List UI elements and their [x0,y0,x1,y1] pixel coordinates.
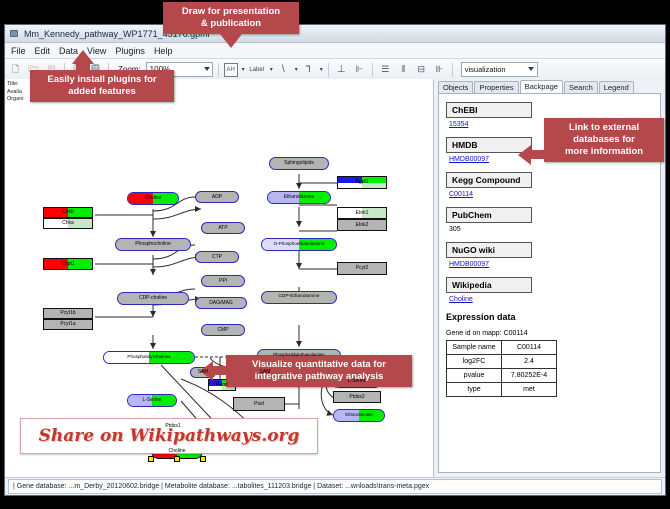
menu-item-edit[interactable]: Edit [35,46,51,56]
tab-legend[interactable]: Legend [599,81,634,94]
node-label: Sphingolipids [284,161,314,166]
node-ethanolamine-right[interactable]: Ethanolamine [333,409,385,422]
node-pcyt1b[interactable]: Pcyt1b [43,308,93,319]
new-file-icon[interactable]: 🗋 [8,62,23,77]
node-label: Chkb [62,210,74,215]
node-label: Ptdss1 [165,424,180,429]
menu-item-help[interactable]: Help [154,46,173,56]
tab-objects[interactable]: Objects [438,81,473,94]
node-dagmag[interactable]: DAG/MAG [195,297,247,309]
visualization-combobox[interactable]: visualization [461,62,538,77]
toolbar-separator-4 [328,63,329,77]
database-name: Kegg Compound [446,172,532,188]
table-row: Sample name C00114 [447,341,557,355]
database-name: Wikipedia [446,277,532,293]
callout-line-3: more information [551,146,657,158]
pathvisio-icon [9,28,20,39]
text-label-icon[interactable]: AH [224,63,238,77]
visualization-value: visualization [465,65,506,74]
tab-properties[interactable]: Properties [474,81,518,94]
callout-line-1: Easily install plugins for [37,74,167,86]
node-label: Phosphatidylcholines [127,355,170,360]
node-label: Etnk2 [356,223,369,228]
database-block-nugo: NuGO wiki HMDB00097 [446,240,653,268]
toolbar-separator-5 [372,63,373,77]
database-name: ChEBI [446,102,532,118]
database-name: PubChem [446,207,532,223]
menu-item-plugins[interactable]: Plugins [115,46,145,56]
node-label: L-Serine [348,379,367,384]
table-cell-value: 7.80252E-4 [502,369,557,383]
share-banner-text: Share on Wikipathways.org [39,426,300,446]
node-label: CDP-choline [139,296,167,301]
callout-stem-links [530,150,546,159]
node-label: Phosphocholine [135,242,171,247]
node-label: Chka [62,221,74,226]
toolbar-separator-6 [452,63,453,77]
node-label: Chpt1 [61,262,74,267]
node-cdp-choline[interactable]: CDP-choline [117,292,189,305]
node-adp[interactable]: ADP [195,191,239,203]
callout-line-2: added features [37,86,167,98]
tab-backpage[interactable]: Backpage [520,80,563,94]
label-tool[interactable]: Label [248,62,266,77]
node-sphingolipids[interactable]: Sphingolipids [269,157,329,170]
callout-stem-visualize [212,366,228,375]
node-ppi[interactable]: PPi [201,275,245,287]
table-cell-key: pvalue [447,369,502,383]
table-cell-value: 2.4 [502,355,557,369]
table-cell-value: C00114 [502,341,557,355]
chevron-down-icon[interactable]: ▾ [295,66,298,73]
node-label: Pcyt1a [60,322,75,327]
expression-table: Sample name C00114 log2FC 2.4 pvalue 7.8… [446,340,557,397]
database-block-kegg: Kegg Compound C00114 [446,170,653,198]
node-label: CDP-Ethanolamine [278,295,319,300]
callout-line-1: Link to external [551,122,657,134]
node-choline-top[interactable]: Choline [127,192,179,205]
database-link-kegg[interactable]: C00114 [449,191,653,198]
table-row: pvalue 7.80252E-4 [447,369,557,383]
node-l-serine-left[interactable]: L-Serine [127,394,177,407]
callout-draw-for-presentation: Draw for presentation & publication [163,2,299,34]
side-panel-tabs: Objects Properties Backpage Search Legen… [434,79,665,93]
table-cell-key: Sample name [447,341,502,355]
callout-line-1: Draw for presentation [170,6,292,18]
node-label: Phosphatidylethanolamine [273,353,325,357]
table-cell-key: type [447,383,502,397]
tab-search[interactable]: Search [564,81,598,94]
node-label: L-Serine [143,398,162,403]
callout-line-2: & publication [170,18,292,30]
table-row: type met [447,383,557,397]
selection-handle-sw[interactable] [148,456,154,462]
node-label: SAM [260,370,271,375]
node-label: SAH [198,370,208,375]
node-label: Ethanolamine [345,413,373,418]
node-chka[interactable]: Chka [43,218,93,229]
node-label: Ethanolamine [284,195,315,200]
node-phosphocholine[interactable]: Phosphocholine [115,238,191,251]
node-o-phosphoethanolamine[interactable]: O-Phosphoethanolamine [261,238,337,251]
node-label: PPi [219,279,227,284]
screenshot-root: Mm_Kennedy_pathway_WP1771_45176.gpml Fil… [0,0,670,509]
distribute-vertical-icon[interactable]: ☰ [378,62,393,77]
callout-arrow-left-links [518,145,531,165]
node-ctp[interactable]: CTP [195,251,239,263]
node-label: CMP [217,328,228,333]
database-block-wikipedia: Wikipedia Choline [446,275,653,303]
status-bar-text: | Gene database: ...m_Derby_20120602.bri… [8,479,662,494]
node-chkb[interactable]: Chkb [43,207,93,218]
node-etnk2[interactable]: Etnk2 [337,219,387,231]
node-label: Pisd [254,402,264,407]
node-cdp-ethanolamine[interactable]: CDP-Ethanolamine [261,291,337,304]
node-label: O-Phosphoethanolamine [274,242,325,247]
node-label: Sgpl1 [356,180,369,185]
node-sgpl1[interactable]: Sgpl1 [337,176,387,189]
align-top-icon[interactable]: ⊥ [334,62,349,77]
chevron-down-icon[interactable]: ▾ [320,66,323,73]
database-block-pubchem: PubChem 305 [446,205,653,233]
callout-visualize-quantitative-data: Visualize quantitative data for integrat… [226,355,412,387]
node-label: Pcyt2 [356,266,369,271]
interaction-tool[interactable]: ⅂ [301,62,316,77]
node-ptdss2[interactable]: Ptdss2 [333,391,381,403]
menu-item-file[interactable]: File [11,46,26,56]
chevron-down-icon [204,67,210,71]
expression-data-heading: Expression data [446,312,653,322]
node-label: ATP [218,226,227,231]
title-bar: Mm_Kennedy_pathway_WP1771_45176.gpml [5,25,665,43]
node-pcyt2[interactable]: Pcyt2 [337,262,387,275]
table-cell-value: met [502,383,557,397]
node-label: Pemt [216,383,228,388]
table-cell-key: log2FC [447,355,502,369]
node-atp[interactable]: ATP [201,222,245,234]
database-link-nugo[interactable]: HMDB00097 [449,261,653,268]
chevron-down-icon [528,67,534,71]
toolbar-separator-3 [218,63,219,77]
callout-easily-install-plugins: Easily install plugins for added feature… [30,70,174,102]
database-name: NuGO wiki [446,242,532,258]
chevron-down-icon[interactable]: ▾ [270,66,273,73]
node-label: CTP [212,255,222,260]
status-bar: | Gene database: ...m_Derby_20120602.bri… [5,477,665,495]
menu-bar: File Edit Data View Plugins Help [5,43,665,59]
node-label: ADP [212,195,222,200]
node-label: Choline [145,196,162,201]
common-width-icon[interactable]: ⊟ [414,62,429,77]
node-label: Etnk1 [356,211,369,216]
callout-arrow-down-draw [220,34,242,48]
table-row: log2FC 2.4 [447,355,557,369]
selection-handle-se[interactable] [200,456,206,462]
callout-arrow-up-plugins [72,50,94,64]
align-left-icon[interactable]: ⊩ [352,62,367,77]
node-label: DAG/MAG [209,301,233,306]
callout-line-2: databases for [551,134,657,146]
distribute-horizontal-icon[interactable]: ⦀ [396,62,411,77]
node-label: Choline [169,449,186,454]
callout-link-external-databases: Link to external databases for more info… [544,118,664,162]
node-ethanolamine-top[interactable]: Ethanolamine [267,191,331,204]
node-pisd[interactable]: Pisd [233,397,285,411]
node-phosphatidylcholines[interactable]: Phosphatidylcholines [103,351,195,364]
node-pcyt1a[interactable]: Pcyt1a [43,319,93,330]
selection-handle-s[interactable] [174,456,180,462]
common-height-icon[interactable]: ⊪ [432,62,447,77]
node-etnk1[interactable]: Etnk1 [337,207,387,219]
node-chpt1[interactable]: Chpt1 [43,258,93,270]
line-tool[interactable]: \ [276,62,291,77]
gene-id-on-mapp: Gene id on mapp: C00114 [446,330,653,337]
node-label: Pcyt1b [60,311,75,316]
chevron-down-icon[interactable]: ▾ [242,66,245,73]
database-link-wikipedia[interactable]: Choline [449,296,653,303]
node-cmp[interactable]: CMP [201,324,245,336]
node-label: Ptdss2 [349,395,364,400]
database-value-pubchem: 305 [449,226,653,233]
